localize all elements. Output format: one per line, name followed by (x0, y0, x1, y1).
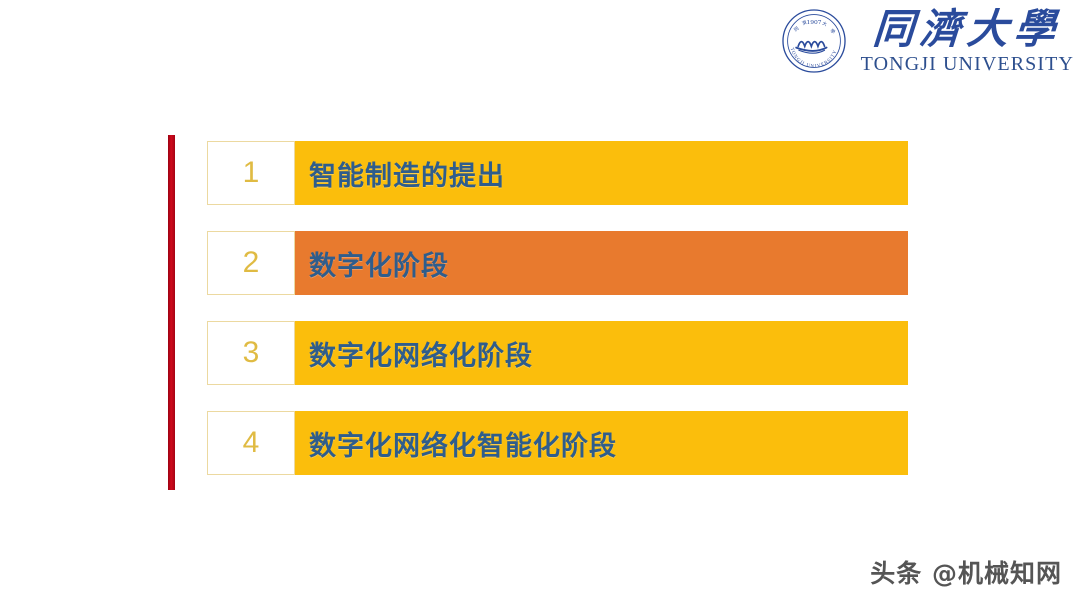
agenda-item-number: 4 (243, 428, 260, 458)
university-wordmark: 同濟大學 TONGJI UNIVERSITY (861, 4, 1074, 75)
university-name-cn: 同濟大學 (872, 6, 1063, 52)
agenda-item-number-box: 2 (207, 231, 295, 295)
agenda-item-bar[interactable]: 数字化网络化智能化阶段 (295, 411, 908, 475)
agenda-item-number-box: 4 (207, 411, 295, 475)
agenda-item-number: 3 (243, 338, 260, 368)
svg-text:學: 學 (828, 27, 836, 36)
agenda-item-4[interactable]: 4 数字化网络化智能化阶段 (207, 411, 908, 475)
accent-rail (168, 135, 175, 490)
svg-text:1907: 1907 (806, 19, 821, 26)
watermark-text: 头条 @机械知网 (870, 554, 1062, 590)
agenda-item-label: 数字化网络化阶段 (309, 334, 533, 373)
agenda-item-label: 数字化网络化智能化阶段 (309, 424, 617, 463)
agenda-item-bar[interactable]: 数字化网络化阶段 (295, 321, 908, 385)
agenda-item-number: 1 (243, 158, 260, 188)
svg-text:同: 同 (793, 26, 801, 34)
agenda-list: 1 智能制造的提出 2 数字化阶段 3 (168, 135, 908, 490)
svg-text:大: 大 (821, 20, 828, 28)
agenda-item-number-box: 1 (207, 141, 295, 205)
agenda-item-label: 数字化阶段 (309, 244, 449, 283)
agenda-item-3[interactable]: 3 数字化网络化阶段 (207, 321, 908, 385)
agenda-item-bar-active[interactable]: 数字化阶段 (295, 231, 908, 295)
university-name-en: TONGJI UNIVERSITY (861, 53, 1074, 75)
agenda-rows: 1 智能制造的提出 2 数字化阶段 3 (207, 141, 908, 475)
tongji-seal-icon: 1907 同 濟 大 學 TONGJI UNIVERSITY (781, 8, 847, 74)
agenda-item-label: 智能制造的提出 (309, 154, 505, 193)
agenda-item-1[interactable]: 1 智能制造的提出 (207, 141, 908, 205)
agenda-item-bar[interactable]: 智能制造的提出 (295, 141, 908, 205)
agenda-item-2[interactable]: 2 数字化阶段 (207, 231, 908, 295)
agenda-item-number: 2 (243, 248, 260, 278)
university-logo: 1907 同 濟 大 學 TONGJI UNIVERSITY 同濟大學 TONG… (781, 4, 1074, 75)
agenda-item-number-box: 3 (207, 321, 295, 385)
slide-canvas: 1907 同 濟 大 學 TONGJI UNIVERSITY 同濟大學 TONG… (0, 0, 1080, 608)
